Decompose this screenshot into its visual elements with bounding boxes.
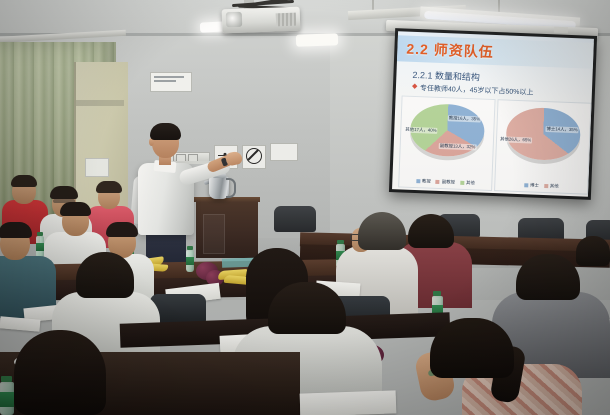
legend-item: 教授 (416, 178, 431, 185)
bottle-label (186, 257, 194, 265)
handout-paper[interactable] (300, 390, 397, 415)
notice-board-sign (150, 72, 192, 92)
slide-title: 2.2 师资队伍 (406, 39, 494, 62)
legend-label: 教授 (422, 178, 431, 184)
legend-swatch (436, 180, 440, 184)
slide-bullet-marker: ◆ (412, 84, 417, 89)
door-panel-seam (76, 100, 124, 106)
legend-label: 其他 (466, 180, 475, 186)
legend-swatch (460, 181, 464, 185)
legend-item: 副教授 (436, 179, 455, 186)
bottle-label (0, 392, 14, 407)
pie-right-label-0: 博士14人，35% (545, 126, 578, 133)
presentation-slide: 2.2 师资队伍 2.2.1 数量和结构 ◆ 专任教师40人，45岁以下占50%… (392, 31, 594, 196)
pie-chart-left: 教授16人，35% 副教授13人，32% 其他17人，40% 教授 副教授 其他 (398, 95, 495, 191)
pie-right-graphic (505, 107, 581, 162)
audience-hair (76, 252, 134, 298)
pie-left-label-2: 其他17人，40% (404, 127, 437, 134)
slide-section-heading: 2.2.1 数量和结构 (412, 68, 480, 84)
legend-item: 其他 (544, 183, 559, 190)
audience-hair (50, 186, 78, 199)
audience-hair (96, 181, 122, 193)
pie-right-label-1: 其他26人，65% (499, 136, 532, 143)
pie-left-legend: 教授 副教授 其他 (399, 177, 491, 187)
legend-label: 副教授 (442, 179, 455, 186)
pie-right-legend: 博士 其他 (495, 181, 587, 191)
audience-hair (0, 222, 32, 238)
lamp-left-stem (372, 0, 374, 10)
projector-vent (276, 13, 296, 27)
audience-hair (106, 222, 138, 237)
legend-label: 博士 (530, 182, 539, 188)
screen-housing-knob (554, 27, 568, 34)
audience-partial-far-right (576, 236, 610, 266)
legend-label: 其他 (550, 183, 559, 189)
pie-chart-right: 博士14人，35% 其他26人，65% 博士 其他 (494, 99, 591, 195)
cabinet-door[interactable] (203, 214, 225, 254)
presenter-hair (150, 123, 181, 140)
pie-left-label-0: 教授16人，35% (448, 115, 481, 122)
no-smoking-circle-icon (246, 148, 262, 164)
audience-hair (11, 175, 37, 187)
projector-lens (226, 12, 243, 28)
notice-text-line (154, 76, 184, 78)
empty-chair[interactable] (274, 206, 316, 232)
handout-paper[interactable] (0, 316, 40, 331)
audience-long-hair-woman-left (14, 330, 106, 415)
legend-item: 博士 (524, 182, 539, 189)
classroom-lecture-photo: 2.2 师资队伍 2.2.1 数量和结构 ◆ 专任教师40人，45岁以下占50%… (0, 0, 610, 415)
ceiling-light-b (296, 33, 338, 46)
legend-swatch (544, 184, 548, 188)
info-sign (270, 143, 298, 161)
notice-text-line (154, 80, 176, 82)
legend-item: 其他 (460, 180, 475, 187)
audience-ponytail-woman-right (430, 318, 514, 378)
slide-bullet-text: 专任教师40人，45岁以下占50%以上 (420, 83, 534, 97)
kettle-handle (226, 178, 236, 198)
pie-right-wrap (505, 107, 581, 162)
door-notice-sign (85, 158, 109, 177)
legend-swatch (416, 179, 420, 183)
bottle-label (36, 243, 44, 251)
projection-screen: 2.2 师资队伍 2.2.1 数量和结构 ◆ 专任教师40人，45岁以下占50%… (389, 28, 597, 200)
audience-hair (60, 202, 91, 216)
legend-swatch (524, 183, 528, 187)
